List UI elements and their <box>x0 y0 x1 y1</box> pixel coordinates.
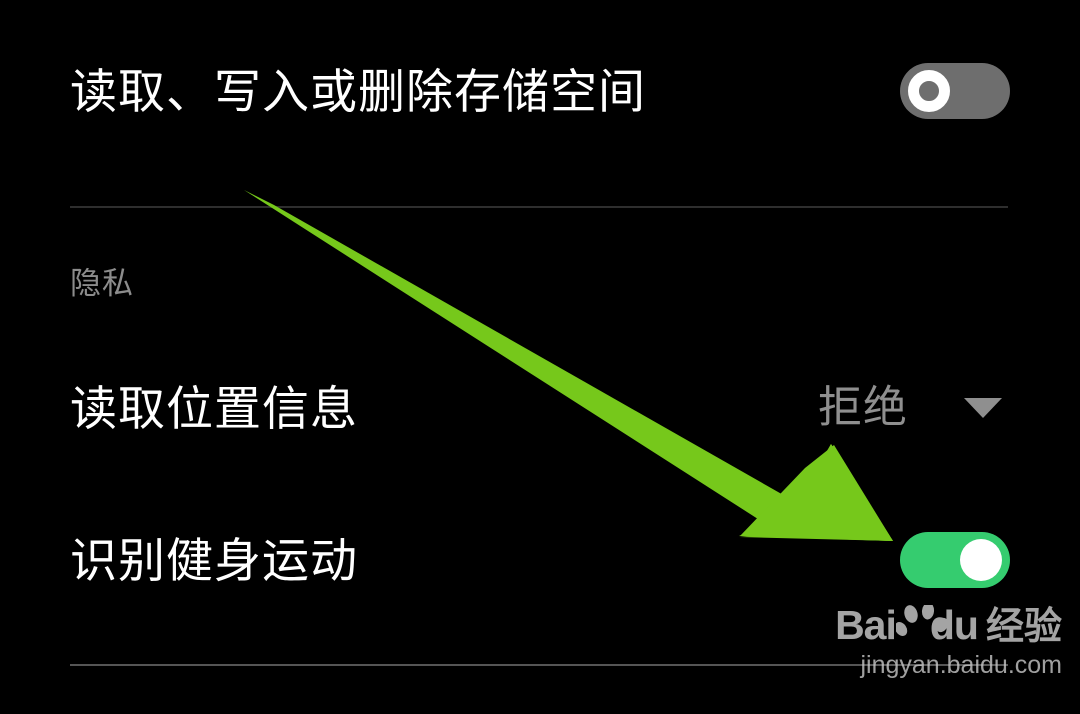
baidu-watermark-logo: Bai du 经验 <box>835 600 1062 646</box>
toggle-knob-icon <box>908 70 950 112</box>
storage-permission-toggle[interactable] <box>900 63 1010 119</box>
permission-row-fitness-label: 识别健身运动 <box>70 537 358 584</box>
baidu-watermark-bai-text: Bai <box>835 605 896 646</box>
baidu-watermark-suffix-text: 经验 <box>986 608 1062 646</box>
settings-permissions-screen: 读取、写入或删除存储空间 隐私 读取位置信息 拒绝 识别健身运动 <box>0 0 1080 714</box>
permission-row-fitness[interactable]: 识别健身运动 <box>0 522 1080 598</box>
location-permission-value: 拒绝 <box>818 386 908 430</box>
baidu-watermark: Bai du 经验 jingyan.baidu.com <box>835 600 1062 678</box>
baidu-watermark-url: jingyan.baidu.com <box>835 653 1062 678</box>
baidu-watermark-du-wrap: du <box>896 605 978 646</box>
chevron-down-icon[interactable] <box>964 398 1002 418</box>
permission-row-storage-label: 读取、写入或删除存储空间 <box>70 68 646 115</box>
toggle-knob-icon <box>960 539 1002 581</box>
permission-row-location-control[interactable]: 拒绝 <box>818 386 1010 430</box>
permission-row-location-label: 读取位置信息 <box>70 385 358 432</box>
permission-row-location[interactable]: 读取位置信息 拒绝 <box>0 372 1080 444</box>
section-divider-top <box>70 206 1008 208</box>
permission-row-storage-control <box>900 63 1010 119</box>
permission-row-storage[interactable]: 读取、写入或删除存储空间 <box>0 48 1080 134</box>
paw-print-icon <box>896 605 956 651</box>
fitness-permission-toggle[interactable] <box>900 532 1010 588</box>
permission-row-fitness-control <box>900 532 1010 588</box>
section-header-privacy: 隐私 <box>70 268 134 299</box>
